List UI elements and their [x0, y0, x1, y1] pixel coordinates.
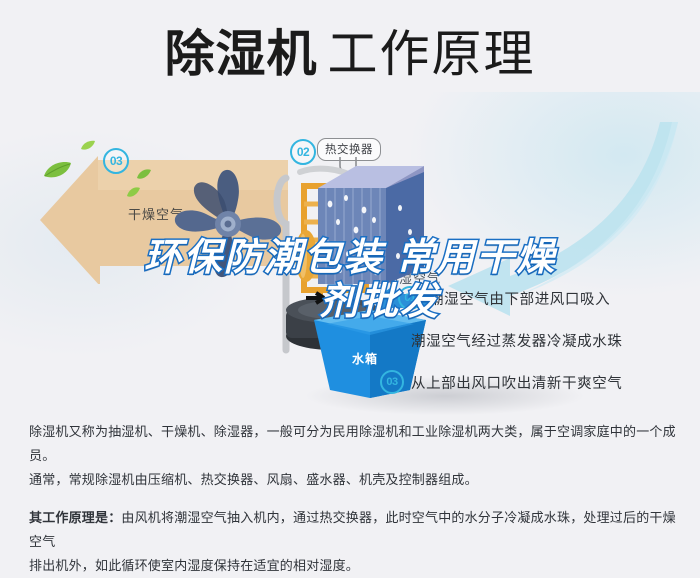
- water-tank-label: 水箱: [352, 350, 378, 367]
- bullet-text: 潮湿空气经过蒸发器冷凝成水珠: [411, 330, 622, 351]
- article-body: 除湿机又称为抽湿机、干燥机、除湿器，一般可分为民用除湿机和工业除湿机两大类，属于…: [29, 420, 677, 578]
- bullet-item: 02 潮湿空气经过蒸发器冷凝成水珠: [380, 328, 700, 352]
- bullet-badge: 03: [380, 370, 404, 394]
- process-bullet-list: 01 潮湿空气由下部进风口吸入 02 潮湿空气经过蒸发器冷凝成水珠 03 从上部…: [380, 286, 700, 412]
- leaf-icon: [80, 140, 96, 151]
- leaf-icon: [126, 186, 141, 198]
- paragraph-gap: [29, 492, 677, 506]
- bullet-item: 03 从上部出风口吹出清新干爽空气: [380, 370, 700, 394]
- page-title: 除湿机工作原理: [0, 26, 700, 82]
- paragraph-2-line-1: 其工作原理是：由风机将潮湿空气抽入机内，通过热交换器，此时空气中的水分子冷凝成水…: [29, 506, 677, 554]
- page-title-part2: 工作原理: [328, 26, 536, 82]
- paragraph-2-label: 其工作原理是：: [29, 510, 121, 525]
- poster-canvas: 除湿机工作原理 干燥空气 潮湿空气: [0, 0, 700, 566]
- badge-03-dry-air: 03: [103, 148, 129, 174]
- paragraph-2-rest: 由风机将潮湿空气抽入机内，通过热交换器，此时空气中的水分子冷凝成水珠，处理过后的…: [29, 510, 676, 549]
- bullet-text: 潮湿空气由下部进风口吸入: [429, 288, 610, 309]
- bullet-badge: 01: [398, 286, 422, 310]
- paragraph-1-line-2: 通常，常规除湿机由压缩机、热交换器、风扇、盛水器、机壳及控制器组成。: [29, 468, 677, 492]
- paragraph-2-line-2: 排出机外，如此循环使室内湿度保持在适宜的相对湿度。: [29, 554, 677, 578]
- diagram-stage: 干燥空气 潮湿空气 03 02 01 热交换器: [0, 118, 700, 403]
- leaf-icon: [42, 160, 72, 180]
- heat-exchanger-fins: [312, 160, 432, 300]
- bullet-item: 01 潮湿空气由下部进风口吸入: [398, 286, 700, 310]
- bullet-text: 从上部出风口吹出清新干爽空气: [411, 372, 622, 393]
- page-title-part1: 除湿机: [165, 26, 318, 82]
- leaf-icon: [136, 168, 152, 180]
- paragraph-1-line-1: 除湿机又称为抽湿机、干燥机、除湿器，一般可分为民用除湿机和工业除湿机两大类，属于…: [29, 420, 677, 468]
